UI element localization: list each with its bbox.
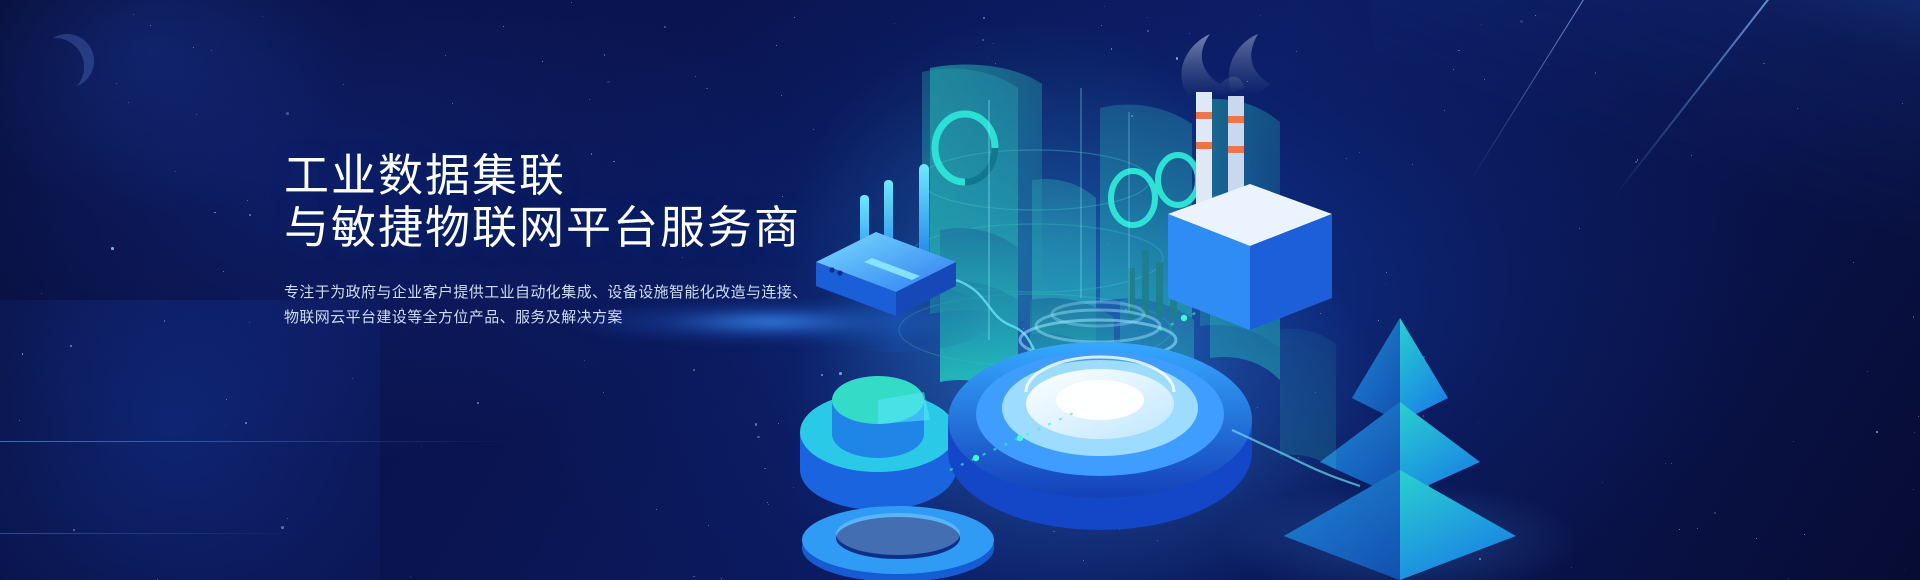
horizon-line-upper [0, 441, 520, 442]
hero-illustration [780, 0, 1920, 580]
crescent-moon-icon [40, 34, 94, 88]
page-title: 工业数据集联 与敏捷物联网平台服务商 [284, 150, 904, 254]
hero-banner: 工业数据集联 与敏捷物联网平台服务商 专注于为政府与企业客户提供工业自动化集成、… [0, 0, 1920, 580]
smoke-plume-2 [1229, 34, 1270, 95]
subtitle-line-1: 专注于为政府与企业客户提供工业自动化集成、设备设施智能化改造与连接、 [284, 280, 904, 305]
banner-copy: 工业数据集联 与敏捷物联网平台服务商 专注于为政府与企业客户提供工业自动化集成、… [284, 150, 904, 330]
banner-subtitle: 专注于为政府与企业客户提供工业自动化集成、设备设施智能化改造与连接、 物联网云平… [284, 280, 904, 330]
subtitle-line-2: 物联网云平台建设等全方位产品、服务及解决方案 [284, 305, 904, 330]
ring-base-platform [802, 506, 994, 580]
horizon-line-lower [0, 533, 300, 534]
headline-line-2: 与敏捷物联网平台服务商 [284, 202, 904, 254]
right-edge-panels [1280, 329, 1336, 470]
headline-line-1: 工业数据集联 [284, 150, 904, 202]
bottom-left-glow [0, 300, 380, 580]
